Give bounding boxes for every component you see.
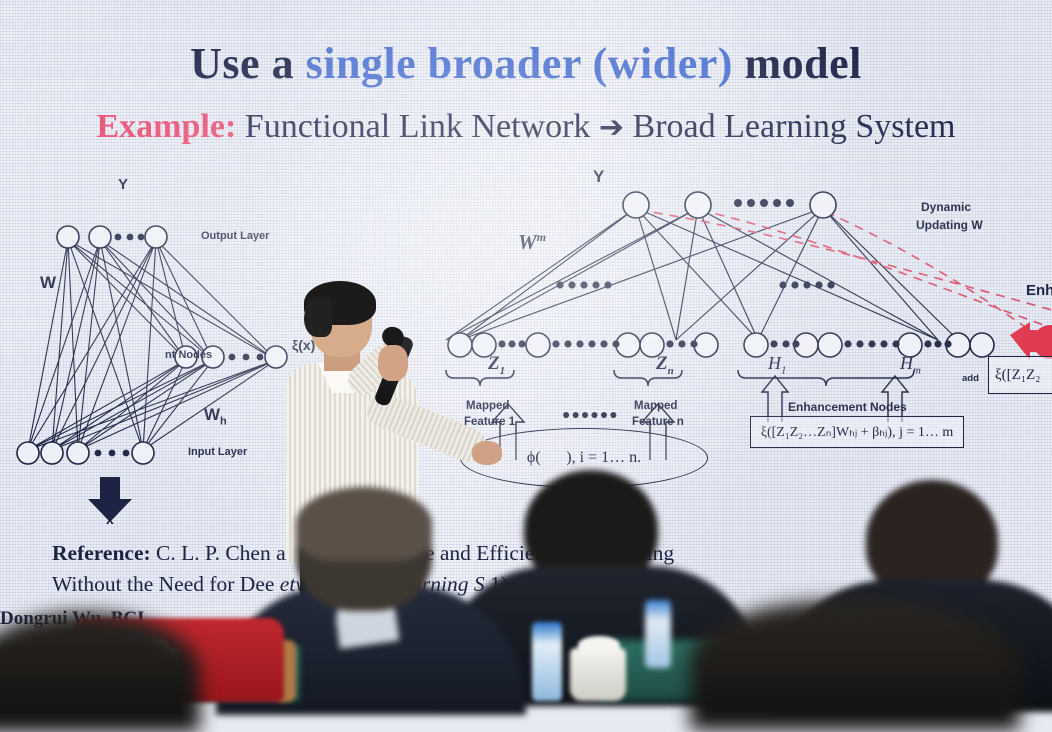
node-group-label-zn: Zn xyxy=(656,353,674,377)
dynamic-updating-label-line1: Dynamic xyxy=(921,200,971,214)
node-group-label-hm: Hm xyxy=(900,353,921,377)
left-hidden-weight-label: Wh xyxy=(204,405,227,427)
left-output-var-label: Y xyxy=(118,176,128,193)
presenter-hand-holding-mic xyxy=(378,345,408,381)
mapped-feature-n-line1: Mapped xyxy=(634,400,677,412)
left-network-diagram: Y W Wh Output Layer Input Layer ξ(x) x n… xyxy=(8,185,308,530)
red-arrow-icon xyxy=(1010,322,1052,360)
reference-label: Reference: xyxy=(52,541,151,565)
add-label: add xyxy=(962,373,979,384)
slide-subtitle: Example: Functional Link Network ➔ Broad… xyxy=(0,108,1052,146)
title-part1: Use a xyxy=(190,39,305,88)
mug-lid-center xyxy=(578,636,620,654)
water-bottle-center xyxy=(532,622,562,701)
subtitle-right-text: Broad Learning System xyxy=(633,108,956,145)
slide-title: Use a single broader (wider) model xyxy=(0,38,1052,89)
side-formula-box: ξ([Z₁Z₂ xyxy=(988,356,1052,394)
mapped-feature-ellipsis: ●●●●●● xyxy=(562,408,619,424)
left-input-var-label: x xyxy=(106,511,114,527)
audience-hair xyxy=(296,487,432,561)
title-part2: model xyxy=(733,39,862,88)
left-output-layer-label: Output Layer xyxy=(201,230,269,242)
enhancement-formula-box: ξ([Z₁Z₂…Zₙ]Wₕⱼ + βₕⱼ), j = 1… m xyxy=(750,416,964,448)
right-weight-label: Wm xyxy=(518,230,546,255)
water-bottle-right xyxy=(645,600,671,668)
presenter-pointing-hand xyxy=(472,441,502,465)
left-weight-label: W xyxy=(40,273,56,293)
right-network-diagram: Y Wm Dynamic Updating W Enh Z1 Zn H1 Hm … xyxy=(438,160,1052,490)
foreground-head-right xyxy=(690,600,1020,730)
presenter-hair-side xyxy=(304,297,332,337)
dynamic-updating-label-line2: Updating W xyxy=(916,218,983,232)
node-group-label-h1: H1 xyxy=(768,353,787,377)
subtitle-example-label: Example: xyxy=(97,108,237,145)
subtitle-left-text: Functional Link Network xyxy=(245,108,591,145)
left-enhancement-nodes-label: nt Nodes xyxy=(165,349,212,361)
arrow-icon: ➔ xyxy=(599,110,624,145)
enhance-label: Enh xyxy=(1026,282,1052,299)
title-highlight: single broader (wider) xyxy=(306,39,733,88)
enhancement-nodes-label: Enhancement Nodes xyxy=(788,400,907,414)
white-mug-center xyxy=(570,648,626,701)
right-output-var-label: Y xyxy=(593,167,604,187)
left-input-layer-label: Input Layer xyxy=(188,446,247,458)
mapped-feature-n-line2: Feature n xyxy=(632,416,684,428)
